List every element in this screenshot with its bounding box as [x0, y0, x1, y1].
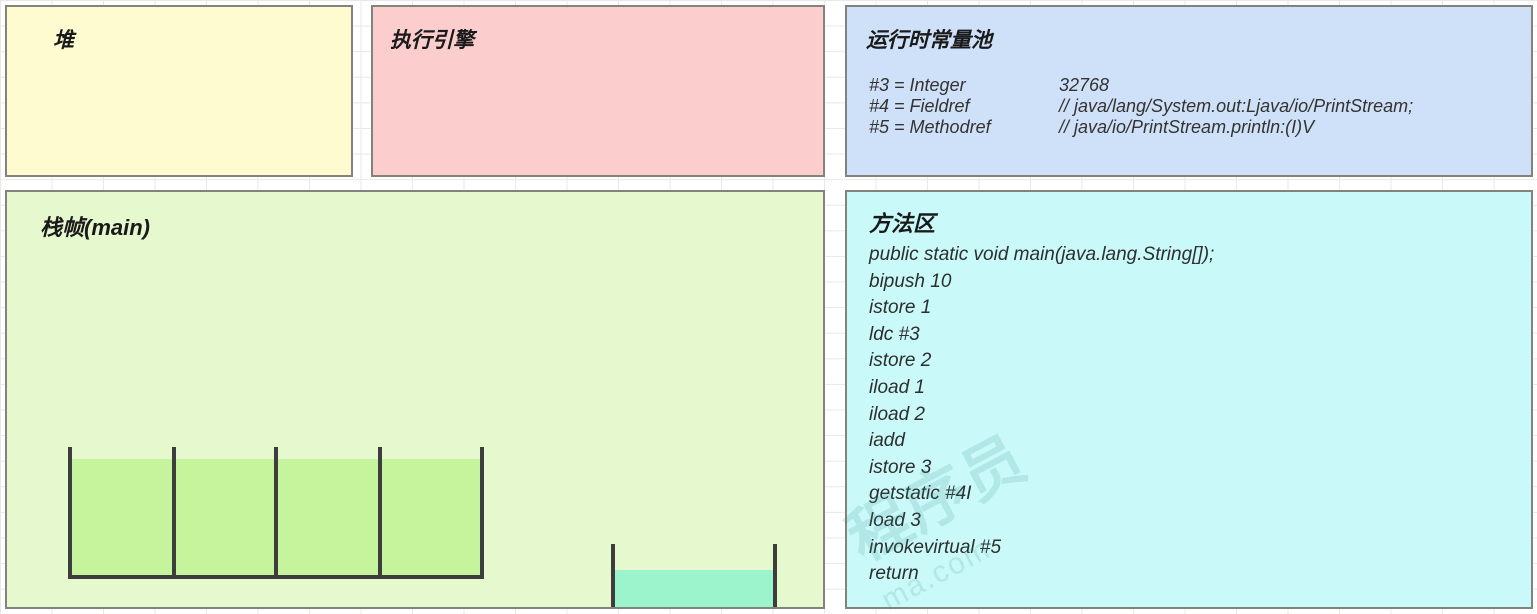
bytecode-line: bipush 10 — [869, 269, 1214, 296]
operand-stack-right-wall — [773, 544, 777, 609]
bytecode-listing: public static void main(java.lang.String… — [869, 242, 1214, 588]
bytecode-line: invokevirtual #5 — [869, 535, 1214, 562]
bytecode-line: ldc #3 — [869, 322, 1214, 349]
bytecode-line: iload 1 — [869, 375, 1214, 402]
bytecode-line: istore 3 — [869, 455, 1214, 482]
method-area-panel: 方法区 public static void main(java.lang.St… — [845, 190, 1533, 609]
method-area-title: 方法区 — [869, 206, 935, 238]
local-variable-slot-divider — [172, 447, 176, 579]
execution-engine-panel: 执行引擎 — [371, 5, 825, 177]
constant-pool-entry-key: #4 = Fieldref — [869, 96, 1059, 117]
bytecode-line: getstatic #4I — [869, 481, 1214, 508]
constant-pool-entry-value: // java/lang/System.out:Ljava/io/PrintSt… — [1059, 96, 1413, 117]
constant-pool-entries: #3 = Integer 32768 #4 = Fieldref // java… — [869, 75, 1413, 138]
local-variable-slot-divider — [378, 447, 382, 579]
runtime-constant-pool-title: 运行时常量池 — [866, 24, 992, 54]
local-variable-slot-divider — [274, 447, 278, 579]
constant-pool-entry-key: #3 = Integer — [869, 75, 1059, 96]
constant-pool-entry-key: #5 = Methodref — [869, 117, 1059, 138]
constant-pool-entry: #3 = Integer 32768 — [869, 75, 1413, 96]
constant-pool-entry: #4 = Fieldref // java/lang/System.out:Lj… — [869, 96, 1413, 117]
operand-stack-left-wall — [611, 544, 615, 609]
heap-panel: 堆 — [5, 5, 353, 177]
bytecode-line: iload 2 — [869, 402, 1214, 429]
constant-pool-entry-value: 32768 — [1059, 75, 1109, 96]
constant-pool-entry: #5 = Methodref // java/io/PrintStream.pr… — [869, 117, 1413, 138]
jvm-memory-diagram: 堆 执行引擎 运行时常量池 #3 = Integer 32768 #4 = Fi… — [0, 0, 1537, 614]
bytecode-line: load 3 — [869, 508, 1214, 535]
constant-pool-entry-value: // java/io/PrintStream.println:(I)V — [1059, 117, 1314, 138]
operand-stack — [611, 544, 777, 609]
bytecode-line: istore 1 — [869, 295, 1214, 322]
local-variable-slot-divider — [68, 447, 72, 579]
stack-frame-panel: 栈帧(main) — [5, 190, 825, 609]
bytecode-line: public static void main(java.lang.String… — [869, 242, 1214, 269]
bytecode-line: istore 2 — [869, 348, 1214, 375]
local-variable-slot-divider — [480, 447, 484, 579]
bytecode-line: return — [869, 561, 1214, 588]
runtime-constant-pool-panel: 运行时常量池 #3 = Integer 32768 #4 = Fieldref … — [845, 5, 1533, 177]
bytecode-line: iadd — [869, 428, 1214, 455]
local-variable-table — [68, 447, 484, 579]
operand-stack-fill — [614, 570, 774, 609]
execution-engine-title: 执行引擎 — [390, 24, 474, 54]
stack-frame-title: 栈帧(main) — [40, 210, 150, 242]
heap-title: 堆 — [53, 24, 74, 54]
